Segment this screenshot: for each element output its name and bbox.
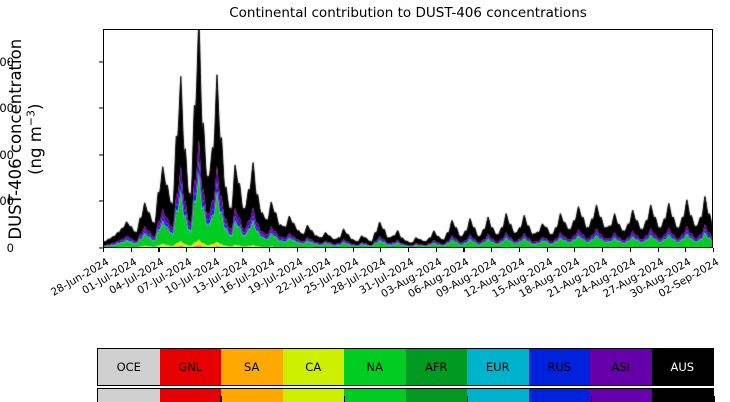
y-tick-label: 400 (0, 55, 14, 69)
legend-secondary-cell-aus (652, 389, 714, 402)
legend-item-label: GNL (178, 360, 202, 374)
legend: OCEGNLSACANAAFREURRUSASIAUS (97, 348, 714, 386)
legend-secondary-cell-oce (98, 389, 160, 402)
page-title: Continental contribution to DUST-406 con… (103, 5, 713, 21)
legend-item-sa[interactable]: SA (221, 349, 283, 385)
x-tick-mark (353, 248, 354, 252)
x-tick-mark (131, 248, 132, 252)
legend-secondary-cell-gnl (160, 389, 222, 402)
legend-item-aus[interactable]: AUS (652, 349, 714, 385)
x-tick-mark (547, 248, 548, 252)
x-tick-mark (658, 248, 659, 252)
x-tick-mark (158, 248, 159, 252)
legend-item-label: OCE (117, 360, 141, 374)
legend-divider-tick (591, 396, 592, 402)
legend-item-label: CA (305, 360, 321, 374)
x-tick-mark (269, 248, 270, 252)
legend-secondary-cell-sa (221, 389, 283, 402)
y-tick-label: 100 (0, 194, 14, 208)
legend-secondary-cell-rus (529, 389, 591, 402)
x-tick-mark (436, 248, 437, 252)
legend-secondary-cell-asi (590, 389, 652, 402)
x-tick-mark (325, 248, 326, 252)
legend-item-gnl[interactable]: GNL (160, 349, 222, 385)
y-axis-units-prefix: (ng m (26, 126, 45, 175)
y-tick-label: 300 (0, 101, 14, 115)
x-tick-mark (463, 248, 464, 252)
y-axis-label-line1: DUST-406 concentration (6, 39, 25, 240)
y-axis-label-line2: (ng m−3) (26, 104, 45, 175)
y-axis-units-suffix: ) (26, 104, 45, 110)
legend-divider-tick (220, 396, 221, 402)
x-tick-mark (408, 248, 409, 252)
legend-item-label: AFR (425, 360, 447, 374)
legend-item-label: RUS (547, 360, 571, 374)
x-tick-mark (186, 248, 187, 252)
legend-secondary-cell-ca (283, 389, 345, 402)
legend-item-ca[interactable]: CA (283, 349, 345, 385)
y-tick-label: 200 (0, 148, 14, 162)
x-tick-mark (602, 248, 603, 252)
legend-divider-tick (714, 396, 715, 402)
x-tick-mark (574, 248, 575, 252)
legend-item-eur[interactable]: EUR (467, 349, 529, 385)
y-axis-label: DUST-406 concentration (ng m−3) (7, 9, 45, 269)
legend-item-oce[interactable]: OCE (98, 349, 160, 385)
x-tick-mark (380, 248, 381, 252)
legend-item-label: SA (244, 360, 259, 374)
x-tick-mark (630, 248, 631, 252)
legend-secondary-cell-eur (467, 389, 529, 402)
y-axis-units-exponent: −3 (24, 110, 37, 126)
legend-divider-tick (344, 396, 345, 402)
figure-canvas: Continental contribution to DUST-406 con… (0, 0, 730, 402)
x-tick-mark (491, 248, 492, 252)
y-tick-label: 0 (0, 241, 14, 255)
legend-item-label: NA (367, 360, 383, 374)
x-tick-mark (297, 248, 298, 252)
legend-item-afr[interactable]: AFR (406, 349, 468, 385)
x-tick-mark (103, 248, 104, 252)
legend-divider-tick (97, 396, 98, 402)
x-tick-mark (519, 248, 520, 252)
stacked-area-plot (104, 30, 713, 248)
x-tick-mark (214, 248, 215, 252)
plot-area (103, 29, 713, 248)
legend-secondary-cell-na (344, 389, 406, 402)
legend-secondary-row (97, 388, 714, 402)
legend-item-label: EUR (486, 360, 510, 374)
legend-item-na[interactable]: NA (344, 349, 406, 385)
x-tick-mark (713, 248, 714, 252)
x-tick-mark (685, 248, 686, 252)
legend-divider-tick (467, 396, 468, 402)
legend-item-label: ASI (611, 360, 630, 374)
legend-secondary-cell-afr (406, 389, 468, 402)
x-tick-mark (242, 248, 243, 252)
legend-item-label: AUS (670, 360, 694, 374)
legend-item-asi[interactable]: ASI (590, 349, 652, 385)
legend-item-rus[interactable]: RUS (529, 349, 591, 385)
